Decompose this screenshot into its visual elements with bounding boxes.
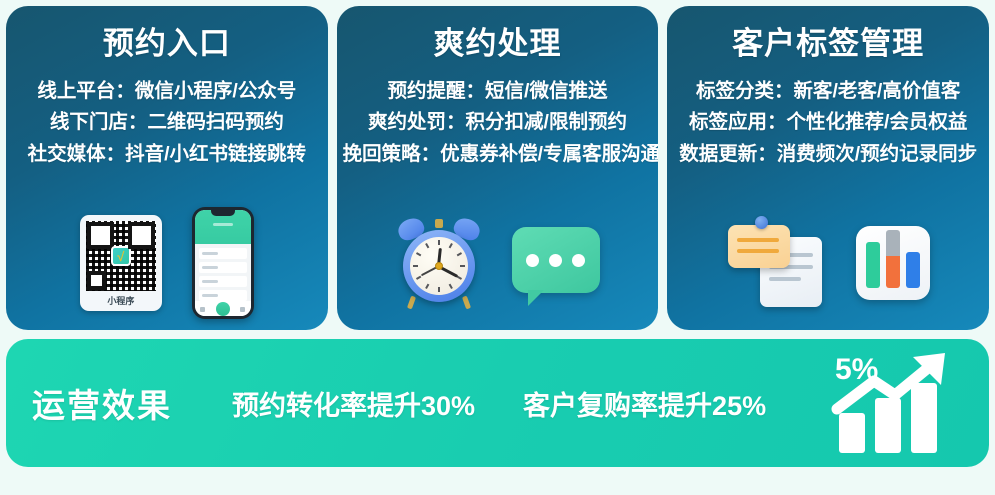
phone-mockup-icon: [192, 207, 254, 319]
card-line-list: 预约提醒：短信/微信推送 爽约处罚：积分扣减/限制预约 挽回策略：优惠券补偿/专…: [337, 76, 659, 171]
infographic-root: 预约入口 线上平台：微信小程序/公众号 线下门店：二维码扫码预约 社交媒体：抖音…: [0, 0, 995, 495]
card-line: 线下门店：二维码扫码预约: [12, 107, 322, 139]
card-title: 爽约处理: [337, 26, 659, 62]
card-line: 标签分类：新客/老客/高价值客: [673, 76, 983, 108]
card-artwork: [337, 204, 659, 322]
results-banner[interactable]: 运营效果 预约转化率提升30% 客户复购率提升25% 5%: [6, 339, 989, 467]
card-line: 预约提醒：短信/微信推送: [343, 76, 653, 108]
chat-bubble-icon: [512, 227, 600, 293]
qr-logo-icon: √: [111, 246, 131, 266]
list-item: [199, 262, 247, 273]
banner-stat-repurchase: 客户复购率提升25%: [523, 384, 766, 423]
card-title: 客户标签管理: [667, 26, 989, 62]
card-line: 线上平台：微信小程序/公众号: [12, 76, 322, 108]
card-artwork: √ 小程序: [6, 204, 328, 322]
qr-code-label: 小程序: [86, 291, 156, 309]
card-customer-tag-management[interactable]: 客户标签管理 标签分类：新客/老客/高价值客 标签应用：个性化推荐/会员权益 数…: [667, 6, 989, 330]
card-line-list: 线上平台：微信小程序/公众号 线下门店：二维码扫码预约 社交媒体：抖音/小红书链…: [6, 76, 328, 171]
chart-bar-1: [866, 242, 880, 288]
card-line: 数据更新：消费频次/预约记录同步: [673, 139, 983, 171]
growth-percent-label: 5%: [835, 353, 878, 387]
card-no-show-handling[interactable]: 爽约处理 预约提醒：短信/微信推送 爽约处罚：积分扣减/限制预约 挽回策略：优惠…: [337, 6, 659, 330]
nav-icon-right: [240, 307, 245, 312]
phone-notch: [211, 210, 235, 216]
tag-note-icon: [728, 225, 790, 268]
card-line: 社交媒体：抖音/小红书链接跳转: [12, 139, 322, 171]
chart-bar-2: [886, 230, 900, 288]
list-item: [199, 276, 247, 287]
bar-chart-icon: [856, 226, 930, 300]
list-item: [199, 248, 247, 259]
alarm-clock-icon: [396, 217, 482, 309]
card-line: 标签应用：个性化推荐/会员权益: [673, 107, 983, 139]
card-artwork: [667, 204, 989, 322]
qr-code-icon: √: [86, 221, 156, 291]
chart-bar-3: [906, 252, 920, 288]
card-row: 预约入口 线上平台：微信小程序/公众号 线下门店：二维码扫码预约 社交媒体：抖音…: [0, 0, 995, 330]
list-item: [199, 290, 247, 301]
qr-code-card[interactable]: √ 小程序: [80, 215, 162, 311]
phone-bottom-nav: [195, 301, 251, 316]
phone-header-title-bar: [213, 223, 233, 226]
growth-chart-icon: 5%: [829, 351, 959, 456]
nav-action-button: [216, 302, 230, 316]
banner-stat-conversion: 预约转化率提升30%: [232, 384, 475, 423]
card-line: 挽回策略：优惠券补偿/专属客服沟通: [343, 139, 653, 171]
card-line-list: 标签分类：新客/老客/高价值客 标签应用：个性化推荐/会员权益 数据更新：消费频…: [667, 76, 989, 171]
card-line: 爽约处罚：积分扣减/限制预约: [343, 107, 653, 139]
phone-list: [195, 244, 251, 301]
card-booking-entry[interactable]: 预约入口 线上平台：微信小程序/公众号 线下门店：二维码扫码预约 社交媒体：抖音…: [6, 6, 328, 330]
card-title: 预约入口: [6, 26, 328, 62]
banner-heading: 运营效果: [32, 379, 172, 427]
document-note-icon: [726, 217, 826, 309]
nav-icon-left: [200, 307, 205, 312]
